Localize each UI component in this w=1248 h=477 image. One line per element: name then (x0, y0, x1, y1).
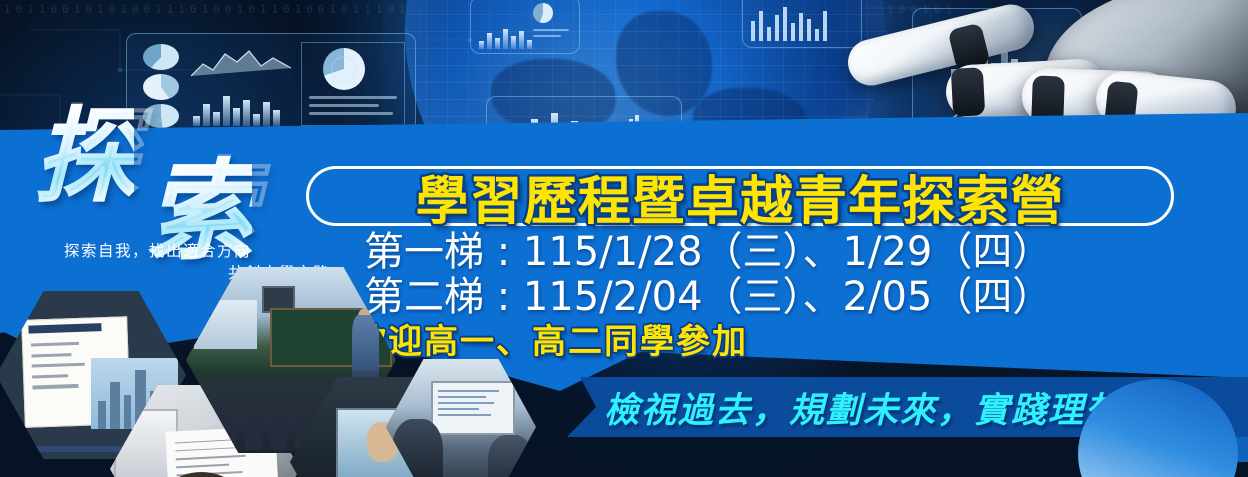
pie-chart-icon (143, 44, 179, 70)
event-title-pill: 學習歷程暨卓越青年探索營 (306, 166, 1174, 226)
area-chart-icon (191, 42, 291, 84)
event-promo-banner: 1011001010100111010010110100101110100101… (0, 0, 1248, 477)
candlestick-chart-icon (751, 3, 827, 41)
pie-chart-icon (533, 3, 553, 23)
bar-chart-icon (479, 25, 532, 49)
robot-knuckle (951, 67, 985, 117)
hud-panel-top-center (470, 0, 580, 54)
pie-chart-icon (143, 74, 179, 100)
logo-subtitle-line-1: 探索自我，找出適合方向 (62, 240, 330, 262)
photo-collage (0, 285, 510, 477)
logo-char-explore-1: 探 (34, 104, 134, 208)
event-title: 學習歷程暨卓越青年探索營 (300, 169, 1179, 223)
donut-chart-icon (323, 48, 365, 90)
session-line-1: 第一梯 : 115/1/28（三）、1/29（四） (364, 230, 1154, 275)
event-logo: 探 索 (34, 108, 334, 248)
